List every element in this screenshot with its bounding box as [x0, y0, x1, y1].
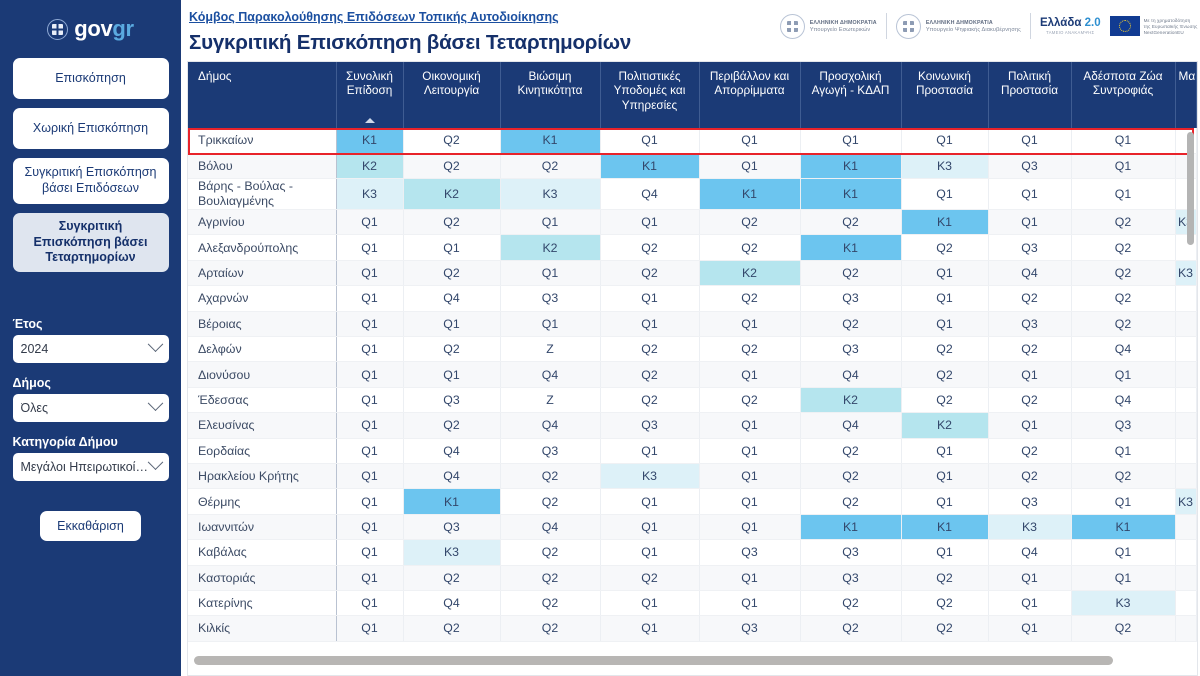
- logo-eu-funding: Με τη χρηματοδότηση της Ευρωπαϊκής Ένωση…: [1110, 16, 1198, 36]
- logo-greece-20: Ελλάδα 2.0 ΤΑΜΕΙΟ ΑΝΑΚΑΜΨΗΣ: [1040, 17, 1101, 35]
- quartile-cell: K3: [1071, 590, 1175, 615]
- quartile-cell: Q1: [988, 590, 1071, 615]
- quartile-cell: K1: [699, 179, 800, 210]
- quartile-cell: Q1: [336, 286, 403, 311]
- quartile-cell: Q2: [800, 590, 901, 615]
- table-row[interactable]: ΒέροιαςQ1Q1Q1Q1Q1Q2Q1Q3Q2: [188, 311, 1196, 336]
- quartile-cell: Q4: [1071, 387, 1175, 412]
- municipality-name-cell: Έδεσσας: [188, 387, 336, 412]
- quartile-cell: Q2: [500, 463, 600, 488]
- quartile-cell: Q2: [600, 235, 699, 260]
- municipality-name-cell: Διονύσου: [188, 362, 336, 387]
- quartile-cell: Q3: [988, 311, 1071, 336]
- quartile-cell: Q1: [901, 179, 988, 210]
- table-row[interactable]: ΙωαννιτώνQ1Q3Q4Q1Q1K1K1K3K1: [188, 514, 1196, 539]
- quartile-cell: Q2: [600, 387, 699, 412]
- quartile-cell: Q1: [1071, 179, 1175, 210]
- table-row[interactable]: ΑρταίωνQ1Q2Q1Q2K2Q2Q1Q4Q2K3: [188, 260, 1196, 285]
- column-header-label: Δήμος: [198, 69, 231, 83]
- quartile-cell: Q2: [901, 235, 988, 260]
- quartile-cell: Q2: [901, 336, 988, 361]
- quartile-cell: Q4: [403, 590, 500, 615]
- sidebar-item-overview[interactable]: Επισκόπηση: [13, 58, 169, 99]
- quartile-cell: Q1: [1071, 128, 1175, 153]
- quartile-cell: Q2: [403, 413, 500, 438]
- quartile-cell: Q1: [600, 210, 699, 235]
- quartile-cell: Q2: [1071, 311, 1175, 336]
- column-header-label: Κοινωνική Προστασία: [916, 69, 973, 97]
- logo-eu-line1: Με τη χρηματοδότηση: [1144, 18, 1198, 23]
- filter-panel: Έτος 2024 Δήμος Όλες Κατηγορία Δήμου Μεγ…: [13, 317, 169, 541]
- quartile-cell: K1: [336, 128, 403, 153]
- quartile-cell: Q2: [403, 128, 500, 153]
- table-header-row: ΔήμοςΣυνολική ΕπίδοσηΟικονομική Λειτουργ…: [188, 62, 1196, 128]
- quartile-cell: Q2: [500, 153, 600, 178]
- quartile-cell: Q1: [1071, 362, 1175, 387]
- quartile-cell: K2: [901, 413, 988, 438]
- quartile-cell: Q1: [336, 438, 403, 463]
- quartile-cell: Q4: [403, 438, 500, 463]
- quartile-cell: Q1: [600, 489, 699, 514]
- quartile-cell: Q1: [988, 210, 1071, 235]
- quartile-cell: Q3: [500, 438, 600, 463]
- quartile-cell: Q2: [800, 260, 901, 285]
- quartile-cell: Q1: [336, 489, 403, 514]
- column-header-10[interactable]: Μα: [1175, 62, 1196, 128]
- municipality-select-value: Όλες: [21, 401, 150, 415]
- quartile-cell: Q3: [800, 540, 901, 565]
- eu-flag-icon: [1110, 16, 1140, 36]
- quartile-cell: Q2: [988, 387, 1071, 412]
- quartile-cell: Q1: [600, 128, 699, 153]
- table-row[interactable]: ΚαβάλαςQ1K3Q2Q1Q3Q3Q1Q4Q1: [188, 540, 1196, 565]
- quartile-cell: Q1: [403, 362, 500, 387]
- data-table-container: ΔήμοςΣυνολική ΕπίδοσηΟικονομική Λειτουργ…: [187, 61, 1198, 676]
- quartile-cell: Q3: [500, 286, 600, 311]
- year-select[interactable]: 2024: [13, 335, 169, 363]
- page-title: Συγκριτική Επισκόπηση βάσει Τεταρτημορίω…: [189, 31, 631, 55]
- quartile-cell: Q2: [901, 565, 988, 590]
- quartile-cell: Q4: [800, 413, 901, 438]
- quartile-cell: Q1: [699, 438, 800, 463]
- municipality-name-cell: Θέρμης: [188, 489, 336, 514]
- quartile-cell: Q1: [336, 362, 403, 387]
- municipality-name-cell: Βάρης - Βούλας - Βουλιαγμένης: [188, 179, 336, 210]
- quartile-cell: Q1: [699, 362, 800, 387]
- quartile-cell: Q2: [403, 616, 500, 641]
- page-header: Κόμβος Παρακολούθησης Επιδόσεων Τοπικής …: [187, 8, 1198, 55]
- quartile-cell: Q3: [403, 514, 500, 539]
- quartile-cell: Q1: [336, 540, 403, 565]
- municipality-select[interactable]: Όλες: [13, 394, 169, 422]
- table-row[interactable]: ΕορδαίαςQ1Q4Q3Q1Q1Q2Q1Q2Q1: [188, 438, 1196, 463]
- quartile-cell: Z: [500, 387, 600, 412]
- logo-ministry-digital: ΕΛΛΗΝΙΚΗ ΔΗΜΟΚΡΑΤΙΑ Υπουργείο Ψηφιακής Δ…: [896, 14, 1021, 39]
- table-body: ΤρικκαίωνK1Q2K1Q1Q1Q1Q1Q1Q1ΒόλουK2Q2Q2K1…: [188, 128, 1196, 641]
- quartile-cell: Q2: [1071, 235, 1175, 260]
- quartile-cell: Q2: [800, 616, 901, 641]
- municipality-name-cell: Ηρακλείου Κρήτης: [188, 463, 336, 488]
- municipality-category-select[interactable]: Μεγάλοι Ηπειρωτικοί Δ...: [13, 453, 169, 481]
- clear-filters-button[interactable]: Εκκαθάριση: [40, 511, 141, 541]
- quartile-cell: Q1: [901, 286, 988, 311]
- quartile-cell: Q2: [699, 235, 800, 260]
- sidebar-item-comparative-performance[interactable]: Συγκριτική Επισκόπηση βάσει Επιδόσεων: [13, 158, 169, 204]
- quartile-cell: Q1: [336, 514, 403, 539]
- table-row[interactable]: Ηρακλείου ΚρήτηςQ1Q4Q2K3Q1Q2Q1Q2Q2: [188, 463, 1196, 488]
- quartile-cell: Q2: [901, 616, 988, 641]
- municipality-name-cell: Αρταίων: [188, 260, 336, 285]
- quartile-cell: Q3: [800, 565, 901, 590]
- quartile-cell: K1: [600, 153, 699, 178]
- quartile-cell: K1: [901, 210, 988, 235]
- quartile-cell: Q2: [699, 387, 800, 412]
- quartile-cell: Q2: [800, 463, 901, 488]
- quartile-cell: Q1: [699, 153, 800, 178]
- quartile-cell: Q2: [403, 153, 500, 178]
- municipality-name-cell: Καστοριάς: [188, 565, 336, 590]
- chevron-down-icon: [147, 455, 163, 471]
- quartile-cell: Q2: [1071, 260, 1175, 285]
- municipality-name-cell: Αγρινίου: [188, 210, 336, 235]
- quartile-cell: Q1: [336, 260, 403, 285]
- quartile-cell: Q1: [699, 128, 800, 153]
- sidebar-item-comparative-quartiles[interactable]: Συγκριτική Επισκόπηση βάσει Τεταρτημορίω…: [13, 213, 169, 272]
- logo-greece-20-sub: ΤΑΜΕΙΟ ΑΝΑΚΑΜΨΗΣ: [1046, 30, 1094, 35]
- logo-ministry-digital-line1: ΕΛΛΗΝΙΚΗ ΔΗΜΟΚΡΑΤΙΑ: [926, 20, 1021, 26]
- quartile-cell: Q1: [1071, 438, 1175, 463]
- table-row[interactable]: ΕλευσίναςQ1Q2Q4Q3Q1Q4K2Q1Q3: [188, 413, 1196, 438]
- quartile-cell: K2: [800, 387, 901, 412]
- table-row[interactable]: ΘέρμηςQ1K1Q2Q1Q1Q2Q1Q3Q1K3: [188, 489, 1196, 514]
- table-row[interactable]: ΒόλουK2Q2Q2K1Q1K1K3Q3Q1: [188, 153, 1196, 178]
- quartile-cell: Q1: [336, 616, 403, 641]
- quartile-cell: Q2: [403, 210, 500, 235]
- quartile-cell: Q1: [699, 413, 800, 438]
- municipality-name-cell: Αχαρνών: [188, 286, 336, 311]
- filter-label-year: Έτος: [13, 317, 169, 331]
- quartile-cell: Q3: [600, 413, 699, 438]
- quartile-cell: Z: [500, 336, 600, 361]
- quartile-cell: Q2: [988, 463, 1071, 488]
- quartile-cell: Q1: [336, 311, 403, 336]
- quartile-cell: Q1: [988, 128, 1071, 153]
- quartile-cell: Q2: [901, 387, 988, 412]
- quartile-cell: K1: [403, 489, 500, 514]
- quartile-cell: Q1: [600, 616, 699, 641]
- quartile-cell: Q2: [988, 438, 1071, 463]
- vertical-scrollbar-thumb[interactable]: [1187, 132, 1194, 245]
- table-row[interactable]: ΚιλκίςQ1Q2Q2Q1Q3Q2Q2Q1Q2: [188, 616, 1196, 641]
- quartile-cell: Q2: [600, 260, 699, 285]
- quartile-cell: Q3: [988, 489, 1071, 514]
- quartile-cell: Q2: [901, 590, 988, 615]
- sidebar-item-spatial-overview[interactable]: Χωρική Επισκόπηση: [13, 108, 169, 149]
- table-row[interactable]: Βάρης - Βούλας - ΒουλιαγμένηςK3K2K3Q4K1K…: [188, 179, 1196, 210]
- quartile-cell: Q2: [901, 362, 988, 387]
- quartile-cell: Q1: [336, 413, 403, 438]
- quartile-cell: Q4: [403, 463, 500, 488]
- logo-eu-line3: NextGenerationEU: [1144, 30, 1198, 35]
- column-header-label: Πολιτιστικές Υποδομές και Υπηρεσίες: [614, 69, 686, 112]
- logo-ministry-interior-line2: Υπουργείο Εσωτερικών: [810, 27, 877, 33]
- quartile-cell: Q2: [600, 565, 699, 590]
- municipality-category-select-value: Μεγάλοι Ηπειρωτικοί Δ...: [21, 460, 150, 474]
- quartile-cell: Q3: [988, 153, 1071, 178]
- column-header-1[interactable]: Συνολική Επίδοση: [336, 62, 403, 128]
- quartile-cell: Q4: [988, 260, 1071, 285]
- quartile-cell: Q1: [1071, 540, 1175, 565]
- quartile-cell: Q1: [600, 438, 699, 463]
- column-header-label: Μα: [1179, 69, 1196, 83]
- horizontal-scrollbar-thumb[interactable]: [194, 656, 1113, 665]
- column-header-7[interactable]: Κοινωνική Προστασία: [901, 62, 988, 128]
- municipality-name-cell: Τρικκαίων: [188, 128, 336, 153]
- table-row[interactable]: ΑχαρνώνQ1Q4Q3Q1Q2Q3Q1Q2Q2: [188, 286, 1196, 311]
- quartile-cell: Q2: [600, 336, 699, 361]
- quartile-cell: Q1: [800, 128, 901, 153]
- municipality-name-cell: Αλεξανδρούπολης: [188, 235, 336, 260]
- quartile-cell: Q2: [800, 311, 901, 336]
- brand-gr-text: gr: [112, 16, 133, 41]
- quartile-cell: Q1: [699, 463, 800, 488]
- quartile-cell: Q1: [600, 311, 699, 336]
- quartile-cell: Q2: [500, 540, 600, 565]
- quartile-cell: Q1: [988, 362, 1071, 387]
- quartile-cell: Q1: [901, 311, 988, 336]
- logo-greece-20-accent: 2.0: [1085, 17, 1101, 29]
- logo-ministry-interior: ΕΛΛΗΝΙΚΗ ΔΗΜΟΚΡΑΤΙΑ Υπουργείο Εσωτερικών: [780, 14, 877, 39]
- quartile-cell: Q1: [901, 438, 988, 463]
- municipality-name-cell: Κατερίνης: [188, 590, 336, 615]
- greek-republic-emblem-icon: [47, 19, 68, 40]
- quartile-cell: Q1: [403, 235, 500, 260]
- quartile-cell: Q1: [600, 514, 699, 539]
- table-row[interactable]: ΤρικκαίωνK1Q2K1Q1Q1Q1Q1Q1Q1: [188, 128, 1196, 153]
- column-header-8[interactable]: Πολιτική Προστασία: [988, 62, 1071, 128]
- quartile-cell: Q1: [403, 311, 500, 336]
- quartile-cell: Q1: [901, 489, 988, 514]
- quartile-cell: Q4: [500, 413, 600, 438]
- table-row[interactable]: ΚατερίνηςQ1Q4Q2Q1Q1Q2Q2Q1K3: [188, 590, 1196, 615]
- quartile-cell: Q1: [500, 260, 600, 285]
- quartile-cell: Q1: [699, 565, 800, 590]
- quartile-cell: Q1: [699, 311, 800, 336]
- eu-stars-icon: [1119, 20, 1131, 32]
- quartile-cell: Q4: [600, 179, 699, 210]
- quartile-cell: Q3: [988, 235, 1071, 260]
- quartile-cell: Q1: [988, 565, 1071, 590]
- quartile-cell: K3: [336, 179, 403, 210]
- column-header-6[interactable]: Προσχολική Αγωγή - ΚΔΑΠ: [800, 62, 901, 128]
- quartile-cell: Q2: [1071, 210, 1175, 235]
- chevron-down-icon: [147, 396, 163, 412]
- quartile-cell: Q4: [500, 514, 600, 539]
- quartile-cell: K1: [901, 514, 988, 539]
- column-header-9[interactable]: Αδέσποτα Ζώα Συντροφιάς: [1071, 62, 1175, 128]
- breadcrumb-link[interactable]: Κόμβος Παρακολούθησης Επιδόσεων Τοπικής …: [189, 10, 559, 24]
- quartile-cell: K2: [500, 235, 600, 260]
- quartile-cell: Q1: [336, 463, 403, 488]
- quartile-cell: Q1: [901, 540, 988, 565]
- quartile-cell: Q1: [699, 514, 800, 539]
- quartile-cell: Q4: [800, 362, 901, 387]
- quartile-cell: Q1: [699, 590, 800, 615]
- municipality-name-cell: Καβάλας: [188, 540, 336, 565]
- logo-greece-20-main: Ελλάδα: [1040, 17, 1081, 29]
- quartile-cell: Q3: [699, 540, 800, 565]
- quartile-cell: K2: [403, 179, 500, 210]
- table-row[interactable]: ΚαστοριάςQ1Q2Q2Q2Q1Q3Q2Q1Q1: [188, 565, 1196, 590]
- sort-ascending-icon: [365, 118, 375, 123]
- quartile-cell: Q1: [1071, 565, 1175, 590]
- quartile-cell: Q1: [600, 590, 699, 615]
- quartile-cell: K3: [600, 463, 699, 488]
- quartile-cell: Q3: [699, 616, 800, 641]
- quartile-cell: Q1: [901, 463, 988, 488]
- logo-ministry-interior-line1: ΕΛΛΗΝΙΚΗ ΔΗΜΟΚΡΑΤΙΑ: [810, 20, 877, 26]
- quartile-cell: Q2: [500, 489, 600, 514]
- quartile-cell: Q1: [336, 565, 403, 590]
- quartile-cell: Q2: [500, 565, 600, 590]
- quartile-cell: Q1: [901, 128, 988, 153]
- quartile-cell: Q2: [988, 336, 1071, 361]
- logo-divider: [886, 13, 887, 39]
- quartile-cell: Q2: [699, 336, 800, 361]
- quartile-cell: Q2: [800, 489, 901, 514]
- municipality-name-cell: Κιλκίς: [188, 616, 336, 641]
- quartile-cell: Q1: [336, 235, 403, 260]
- quartile-cell: K3: [403, 540, 500, 565]
- quartile-cell: Q1: [988, 179, 1071, 210]
- greek-republic-emblem-icon: [780, 14, 805, 39]
- quartile-cell: Q4: [403, 286, 500, 311]
- quartile-cell: Q3: [800, 336, 901, 361]
- quartile-cell: Q2: [500, 616, 600, 641]
- quartile-cell: Q1: [901, 260, 988, 285]
- column-header-3[interactable]: Βιώσιμη Κινητικότητα: [500, 62, 600, 128]
- filter-label-municipality: Δήμος: [13, 376, 169, 390]
- column-header-0[interactable]: Δήμος: [188, 62, 336, 128]
- municipality-name-cell: Ελευσίνας: [188, 413, 336, 438]
- quartile-cell: Q2: [1071, 616, 1175, 641]
- quartile-cell: Q4: [988, 540, 1071, 565]
- quartile-cell: K2: [699, 260, 800, 285]
- table-row[interactable]: ΑλεξανδρούποληςQ1Q1K2Q2Q2K1Q2Q3Q2: [188, 235, 1196, 260]
- quartile-cell: Q1: [336, 336, 403, 361]
- column-header-label: Περιβάλλον και Απορρίμματα: [710, 69, 789, 97]
- chevron-down-icon: [147, 337, 163, 353]
- municipality-name-cell: Βόλου: [188, 153, 336, 178]
- municipality-name-cell: Βέροιας: [188, 311, 336, 336]
- quartile-cell: Q2: [988, 286, 1071, 311]
- quartile-cell: Q2: [403, 260, 500, 285]
- quartile-cell: Q1: [600, 286, 699, 311]
- quartile-cell: Q1: [988, 616, 1071, 641]
- quartile-cell: K1: [1071, 514, 1175, 539]
- filter-label-municipality-category: Κατηγορία Δήμου: [13, 435, 169, 449]
- year-select-value: 2024: [21, 342, 150, 356]
- quartile-cell: Q2: [500, 590, 600, 615]
- table-row[interactable]: ΑγρινίουQ1Q2Q1Q1Q2Q2K1Q1Q2K3: [188, 210, 1196, 235]
- column-header-label: Πολιτική Προστασία: [1001, 69, 1058, 97]
- logo-eu-line2: της Ευρωπαϊκής Ένωσης: [1144, 24, 1198, 29]
- quartile-cell: Q2: [1071, 286, 1175, 311]
- column-header-label: Αδέσποτα Ζώα Συντροφιάς: [1083, 69, 1162, 97]
- quartile-cell: K3: [901, 153, 988, 178]
- column-header-label: Συνολική Επίδοση: [346, 69, 393, 97]
- column-header-5[interactable]: Περιβάλλον και Απορρίμματα: [699, 62, 800, 128]
- quartile-cell: Q1: [336, 387, 403, 412]
- municipality-name-cell: Εορδαίας: [188, 438, 336, 463]
- quartile-cell: Q1: [336, 210, 403, 235]
- quartile-cell: K1: [500, 128, 600, 153]
- logo-divider: [1030, 13, 1031, 39]
- greek-republic-emblem-icon: [896, 14, 921, 39]
- table-row[interactable]: ΔιονύσουQ1Q1Q4Q2Q1Q4Q2Q1Q1: [188, 362, 1196, 387]
- column-header-label: Προσχολική Αγωγή - ΚΔΑΠ: [812, 69, 890, 97]
- quartile-cell: Q2: [403, 565, 500, 590]
- quartile-cell: Q2: [699, 286, 800, 311]
- quartile-cell: K1: [800, 179, 901, 210]
- quartile-cell: K3: [500, 179, 600, 210]
- quartile-cell: Q3: [800, 286, 901, 311]
- quartile-cell: Q2: [403, 336, 500, 361]
- quartile-cell: Q1: [500, 311, 600, 336]
- header-logos: ΕΛΛΗΝΙΚΗ ΔΗΜΟΚΡΑΤΙΑ Υπουργείο Εσωτερικών…: [780, 8, 1198, 39]
- brand-gov-text: gov: [74, 16, 112, 41]
- vertical-scrollbar[interactable]: [1187, 132, 1194, 646]
- quartile-cell: Q1: [336, 590, 403, 615]
- quartile-cell: Q1: [500, 210, 600, 235]
- column-header-label: Βιώσιμη Κινητικότητα: [518, 69, 583, 97]
- quartile-cell: Q3: [1071, 413, 1175, 438]
- table-row[interactable]: ΈδεσσαςQ1Q3ZQ2Q2K2Q2Q2Q4: [188, 387, 1196, 412]
- brand-logo[interactable]: govgr: [47, 12, 134, 46]
- quartile-comparison-table: ΔήμοςΣυνολική ΕπίδοσηΟικονομική Λειτουργ…: [188, 62, 1197, 642]
- quartile-cell: Q4: [1071, 336, 1175, 361]
- quartile-cell: Q2: [800, 210, 901, 235]
- quartile-cell: Q1: [1071, 489, 1175, 514]
- quartile-cell: Q2: [699, 210, 800, 235]
- quartile-cell: Q4: [500, 362, 600, 387]
- quartile-cell: K1: [800, 153, 901, 178]
- quartile-cell: Q3: [403, 387, 500, 412]
- sidebar: govgr Επισκόπηση Χωρική Επισκόπηση Συγκρ…: [0, 0, 181, 676]
- main-content: Κόμβος Παρακολούθησης Επιδόσεων Τοπικής …: [181, 0, 1200, 676]
- horizontal-scrollbar[interactable]: [194, 656, 1183, 665]
- quartile-cell: Q1: [699, 489, 800, 514]
- quartile-cell: Q2: [1071, 463, 1175, 488]
- column-header-4[interactable]: Πολιτιστικές Υποδομές και Υπηρεσίες: [600, 62, 699, 128]
- quartile-cell: K2: [336, 153, 403, 178]
- table-row[interactable]: ΔελφώνQ1Q2ZQ2Q2Q3Q2Q2Q4: [188, 336, 1196, 361]
- logo-ministry-digital-line2: Υπουργείο Ψηφιακής Διακυβέρνησης: [926, 27, 1021, 33]
- column-header-label: Οικονομική Λειτουργία: [422, 69, 480, 97]
- quartile-cell: Q2: [800, 438, 901, 463]
- quartile-cell: Q1: [988, 413, 1071, 438]
- municipality-name-cell: Ιωαννιτών: [188, 514, 336, 539]
- column-header-2[interactable]: Οικονομική Λειτουργία: [403, 62, 500, 128]
- municipality-name-cell: Δελφών: [188, 336, 336, 361]
- quartile-cell: K1: [800, 514, 901, 539]
- quartile-cell: Q1: [600, 540, 699, 565]
- quartile-cell: Q2: [600, 362, 699, 387]
- quartile-cell: K1: [800, 235, 901, 260]
- quartile-cell: K3: [988, 514, 1071, 539]
- quartile-cell: Q1: [1071, 153, 1175, 178]
